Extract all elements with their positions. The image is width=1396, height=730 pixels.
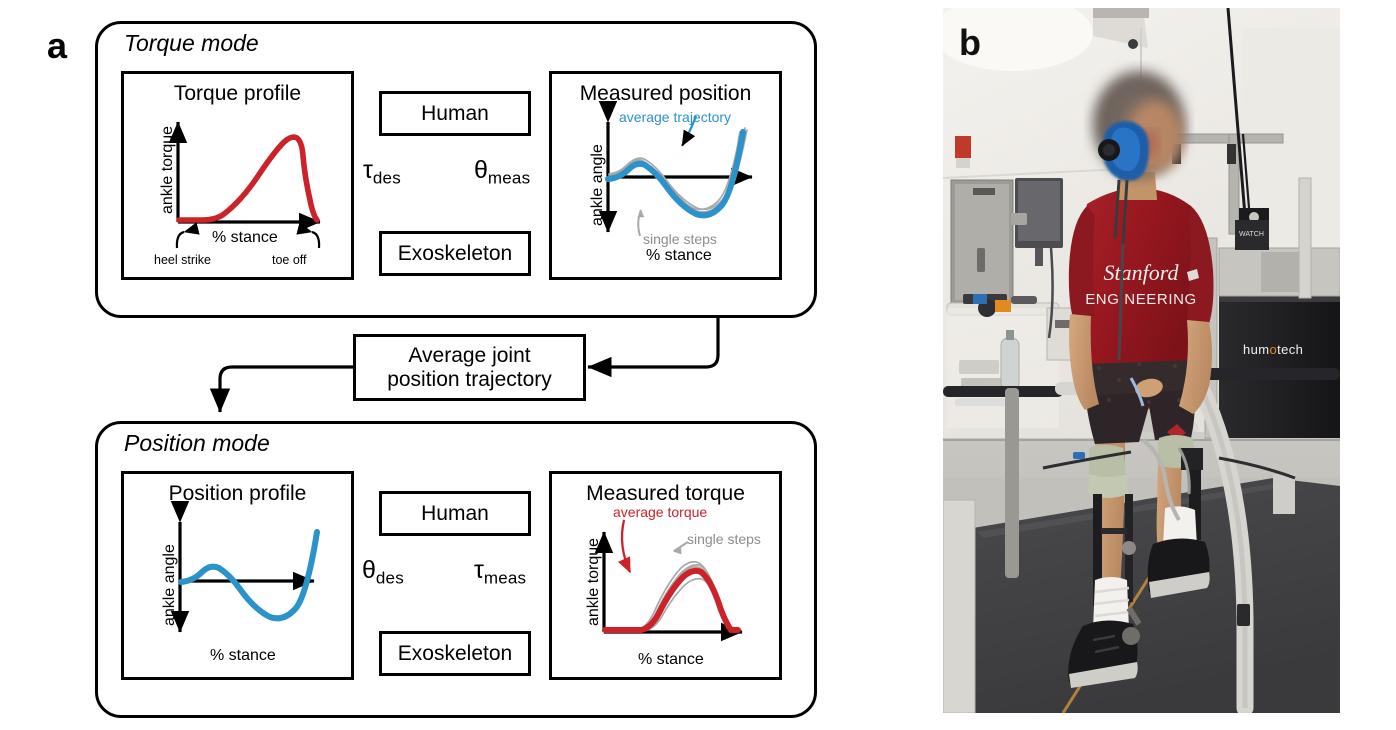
panel-letter-b: b xyxy=(959,22,981,64)
axis-label-y-angle-position-profile: ankle angle xyxy=(162,544,178,626)
position-mode-title: Position mode xyxy=(124,432,270,455)
average-joint-line-1: Average joint xyxy=(408,344,530,368)
torque-mode-title: Torque mode xyxy=(124,32,259,55)
block-exoskeleton-position-label: Exoskeleton xyxy=(379,631,531,676)
block-human-position-label: Human xyxy=(379,491,531,536)
photo-render: humotech WATCH xyxy=(943,8,1340,713)
svg-text:ENGINEERING: ENGINEERING xyxy=(1085,291,1197,308)
signal-tau-des: τdes xyxy=(363,158,401,186)
annotation-toe-off: toe off xyxy=(272,254,307,267)
axis-label-y-torque-measured: ankle torque xyxy=(586,538,602,626)
chart-torque-profile: Torque profile ankle torque % stance hee… xyxy=(121,71,354,280)
signal-theta-meas-symbol: θ xyxy=(474,156,488,184)
signal-theta-meas: θmeas xyxy=(474,158,530,186)
axis-label-x-stance-position: % stance xyxy=(646,248,712,264)
svg-text:humotech: humotech xyxy=(1243,342,1303,357)
block-human-torque-label: Human xyxy=(379,91,531,136)
signal-theta-des-symbol: θ xyxy=(362,556,376,584)
axis-label-x-stance-measured-torque: % stance xyxy=(638,652,704,668)
signal-tau-des-subscript: des xyxy=(373,168,401,187)
annotation-average-torque: average torque xyxy=(613,504,707,520)
chart-measured-torque: Measured torque xyxy=(549,471,782,680)
svg-text:Stanford: Stanford xyxy=(1104,260,1180,285)
svg-text:WATCH: WATCH xyxy=(1239,231,1264,238)
axis-label-x-stance-position-profile: % stance xyxy=(210,648,276,664)
signal-tau-meas: τmeas xyxy=(474,558,526,586)
chart-measured-position: Measured position xyxy=(549,71,782,280)
signal-tau-meas-symbol: τ xyxy=(474,556,484,584)
annotation-single-steps-torque: single steps xyxy=(687,531,761,547)
axis-label-y-angle: ankle angle xyxy=(590,144,606,226)
axis-label-x-stance: % stance xyxy=(212,230,278,246)
annotation-average-trajectory: average trajectory xyxy=(619,109,731,125)
signal-tau-des-symbol: τ xyxy=(363,156,373,184)
block-exoskeleton-torque-label: Exoskeleton xyxy=(379,231,531,276)
annotation-heel-strike: heel strike xyxy=(154,254,211,267)
annotation-single-steps-position: single steps xyxy=(643,231,717,247)
signal-theta-des-subscript: des xyxy=(376,568,404,587)
signal-theta-des: θdes xyxy=(362,558,404,586)
chart-position-profile: Position profile ankle angle % stance xyxy=(121,471,354,680)
axis-label-y-torque: ankle torque xyxy=(160,126,176,214)
signal-theta-meas-subscript: meas xyxy=(488,168,530,187)
average-joint-line-2: position trajectory xyxy=(387,368,552,392)
photo-exoskeleton-treadmill: humotech WATCH xyxy=(943,8,1340,713)
signal-tau-meas-subscript: meas xyxy=(484,568,526,587)
block-average-joint-trajectory-label: Average joint position trajectory xyxy=(353,334,586,401)
figure-root: a Torque mode Torque profile xyxy=(0,0,1396,730)
